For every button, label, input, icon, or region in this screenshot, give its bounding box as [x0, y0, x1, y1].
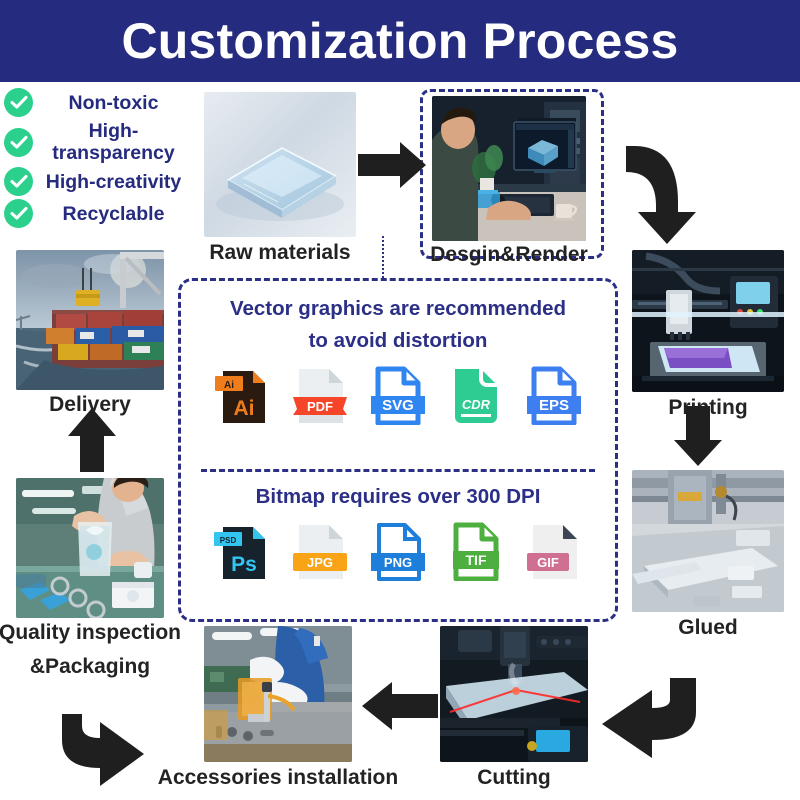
feature-item: Recyclable — [4, 199, 188, 228]
step-tile-accessories-installation: Accessories installation — [204, 626, 352, 762]
step-tile-raw-materials: Raw materials — [204, 92, 356, 237]
vector-title-line2: to avoid distortion — [181, 325, 615, 357]
png-file-icon: PNG — [369, 521, 427, 581]
cdr-file-icon: CDR — [447, 365, 505, 425]
arrow-raw-to-design — [358, 140, 428, 190]
pdf-file-icon: PDF — [291, 365, 349, 425]
arrow-accessories-to-quality — [48, 686, 158, 792]
accessories-installation-photo — [204, 626, 352, 762]
raw-materials-photo — [204, 92, 356, 237]
tif-file-icon: TIF — [447, 521, 505, 581]
vector-section: Vector graphics are recommended to avoid… — [181, 293, 615, 425]
vector-format-icons: Ai Ai PDF — [181, 365, 615, 425]
svg-text:CDR: CDR — [462, 397, 491, 412]
step-tile-cutting: Cutting — [440, 626, 588, 762]
glued-photo — [632, 470, 784, 612]
panel-divider — [201, 469, 595, 472]
arrow-printing-to-glued — [672, 406, 724, 468]
eps-file-icon: EPS — [525, 365, 583, 425]
design-render-photo — [432, 96, 586, 241]
svg-file-icon: SVG — [369, 365, 427, 425]
check-circle-icon — [4, 88, 33, 117]
arrow-design-to-printing — [624, 140, 714, 250]
page-title: Customization Process — [0, 0, 800, 82]
file-format-panel: Vector graphics are recommended to avoid… — [178, 278, 618, 622]
check-circle-icon — [4, 167, 33, 196]
arrow-quality-to-delivery — [66, 406, 118, 472]
ai-file-icon: Ai Ai — [213, 365, 271, 425]
svg-text:Ai: Ai — [234, 397, 255, 420]
step-tile-quality-inspection: Quality inspection &Packaging — [16, 478, 164, 618]
bitmap-title: Bitmap requires over 300 DPI — [181, 481, 615, 513]
svg-text:JPG: JPG — [307, 555, 333, 570]
svg-text:PNG: PNG — [384, 555, 412, 570]
step-caption-quality-inspection-line2: &Packaging — [0, 654, 195, 679]
check-circle-icon — [4, 199, 33, 228]
delivery-photo — [16, 250, 164, 390]
step-tile-design-render: Desgin&Render — [432, 96, 586, 241]
check-circle-icon — [4, 128, 33, 157]
psd-file-icon: PSD Ps — [213, 521, 271, 581]
feature-item: High-creativity — [4, 167, 188, 196]
header-bar: Customization Process — [0, 0, 800, 82]
features-list: Non-toxic High-transparency High-creativ… — [4, 88, 188, 231]
svg-text:TIF: TIF — [466, 552, 487, 568]
svg-text:Ai: Ai — [224, 380, 234, 391]
step-tile-printing: Printing — [632, 250, 784, 392]
svg-text:Ps: Ps — [231, 553, 257, 576]
bitmap-section: Bitmap requires over 300 DPI PSD Ps — [181, 481, 615, 581]
arrow-cutting-to-accessories — [358, 680, 438, 732]
vector-title-line1: Vector graphics are recommended — [181, 293, 615, 325]
step-caption-design-render: Desgin&Render — [430, 242, 588, 267]
infographic-root: Customization Process Non-toxic High-tra… — [0, 0, 800, 800]
svg-text:PSD: PSD — [220, 536, 237, 545]
svg-text:EPS: EPS — [539, 397, 569, 414]
gif-file-icon: GIF — [525, 521, 583, 581]
feature-item: High-transparency — [4, 120, 188, 164]
svg-text:GIF: GIF — [537, 555, 559, 570]
step-caption-glued: Glued — [678, 615, 738, 640]
step-caption-accessories-installation: Accessories installation — [158, 765, 398, 790]
feature-label: Non-toxic — [39, 92, 188, 114]
design-to-panel-connector — [382, 236, 432, 282]
step-tile-glued: Glued — [632, 470, 784, 612]
step-caption-quality-inspection-line1: Quality inspection — [0, 620, 195, 645]
svg-text:SVG: SVG — [382, 397, 414, 414]
feature-label: Recyclable — [39, 203, 188, 225]
step-tile-delivery: Delivery — [16, 250, 164, 390]
feature-label: High-transparency — [39, 120, 188, 164]
step-caption-cutting: Cutting — [477, 765, 550, 790]
svg-text:PDF: PDF — [307, 399, 333, 414]
feature-item: Non-toxic — [4, 88, 188, 117]
cutting-photo — [440, 626, 588, 762]
jpg-file-icon: JPG — [291, 521, 349, 581]
quality-inspection-photo — [16, 478, 164, 618]
feature-label: High-creativity — [39, 171, 188, 193]
step-caption-raw-materials: Raw materials — [209, 240, 350, 265]
printing-photo — [632, 250, 784, 392]
bitmap-format-icons: PSD Ps JPG — [181, 521, 615, 581]
arrow-glued-to-cutting — [592, 678, 704, 778]
